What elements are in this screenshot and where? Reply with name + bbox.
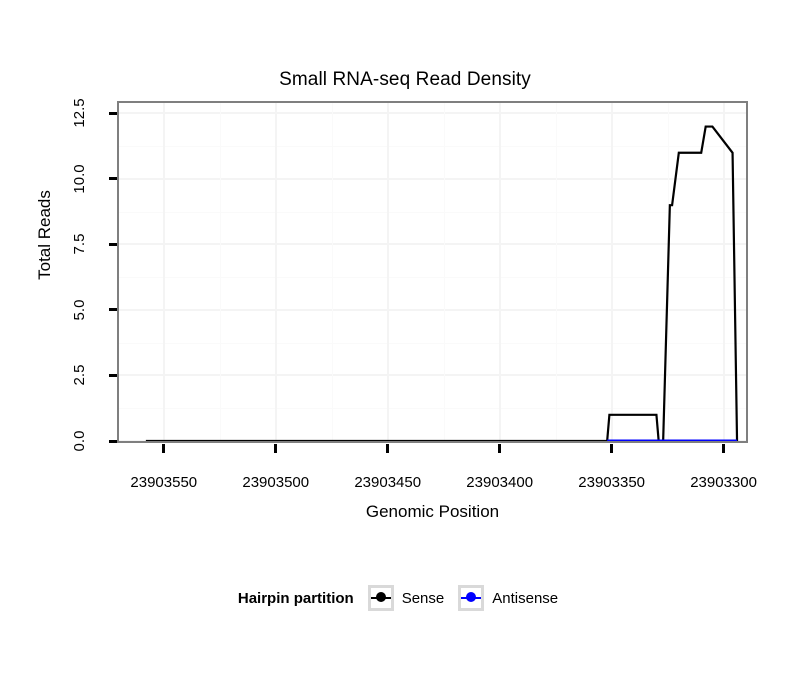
x-tick-label: 23903450: [333, 474, 443, 491]
series-line-sense: [146, 127, 737, 441]
legend-key-point: [376, 592, 386, 602]
y-tick-label: 5.0: [72, 287, 88, 333]
plot-panel-inner: [119, 103, 746, 441]
x-tick-mark: [162, 444, 165, 453]
legend-label-antisense: Antisense: [492, 590, 558, 607]
plot-panel: [117, 101, 748, 443]
legend-title: Hairpin partition: [238, 590, 354, 607]
x-tick-label: 23903500: [221, 474, 331, 491]
y-tick-label: 7.5: [72, 221, 88, 267]
y-tick-label: 0.0: [72, 418, 88, 464]
chart-legend: Hairpin partition Sense Antisense: [0, 585, 810, 611]
x-tick-label: 23903550: [109, 474, 219, 491]
y-tick-mark: [109, 308, 117, 311]
chart-title: Small RNA-seq Read Density: [0, 68, 810, 92]
x-tick-mark: [274, 444, 277, 453]
x-tick-mark: [386, 444, 389, 453]
y-tick-mark: [109, 374, 117, 377]
chart-figure: Small RNA-seq Read Density Total Reads G…: [0, 0, 810, 690]
x-tick-label: 23903300: [669, 474, 779, 491]
legend-entry-sense[interactable]: Sense: [368, 585, 445, 611]
x-tick-mark: [610, 444, 613, 453]
y-tick-label: 10.0: [72, 156, 88, 202]
y-tick-label: 2.5: [72, 352, 88, 398]
x-tick-mark: [498, 444, 501, 453]
y-tick-mark: [109, 177, 117, 180]
y-tick-mark: [109, 112, 117, 115]
y-tick-mark: [109, 243, 117, 246]
legend-key-antisense-icon: [458, 585, 484, 611]
legend-key-sense-icon: [368, 585, 394, 611]
y-tick-mark: [109, 440, 117, 443]
x-tick-label: 23903350: [557, 474, 667, 491]
legend-entry-antisense[interactable]: Antisense: [458, 585, 558, 611]
x-tick-mark: [722, 444, 725, 453]
y-tick-label: 12.5: [72, 90, 88, 136]
data-series-layer: [119, 103, 746, 441]
x-tick-label: 23903400: [445, 474, 555, 491]
legend-label-sense: Sense: [402, 590, 445, 607]
y-axis-title: Total Reads: [35, 155, 55, 315]
legend-key-point: [466, 592, 476, 602]
x-axis-title: Genomic Position: [117, 502, 748, 522]
